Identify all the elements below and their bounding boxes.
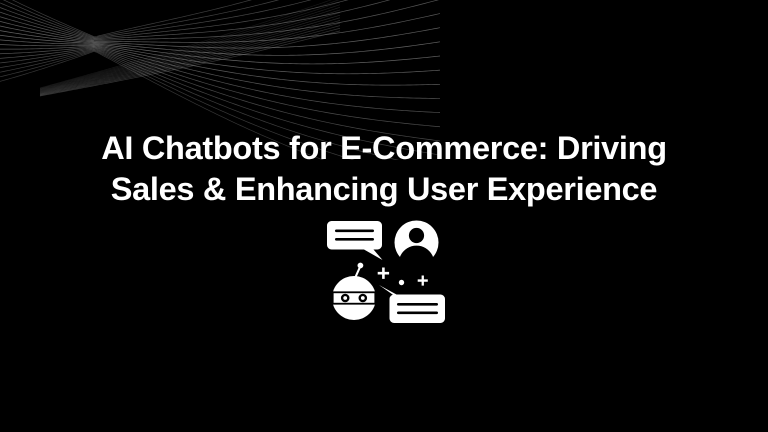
sparkle-plus-icon — [378, 268, 389, 279]
bubble-text-line — [335, 238, 374, 241]
sparkle-plus-icon — [418, 276, 428, 286]
wave-line — [0, 26, 440, 48]
wave-line — [40, 31, 340, 96]
robot-head-icon — [332, 263, 377, 320]
sparkle-dot-icon — [399, 280, 404, 285]
wave-line — [0, 0, 440, 37]
wave-line — [0, 48, 440, 127]
speech-bubble-icon — [379, 285, 445, 323]
wave-line — [40, 0, 340, 88]
robot-eye-band-inner — [334, 293, 375, 303]
wave-line — [0, 47, 440, 113]
wave-line — [40, 20, 340, 93]
robot-eye-pupil — [361, 296, 365, 300]
wave-line — [40, 7, 340, 90]
wave-line — [0, 46, 440, 98]
title-block: AI Chatbots for E-Commerce: Driving Sale… — [0, 128, 768, 210]
ai-chat-illustration — [327, 219, 445, 327]
wave-line — [0, 0, 440, 41]
wave-line — [40, 5, 340, 90]
user-avatar-icon — [395, 221, 439, 271]
page-title: AI Chatbots for E-Commerce: Driving Sale… — [48, 128, 720, 210]
robot-antenna-tip — [358, 263, 364, 269]
speech-bubble-icon — [327, 221, 383, 260]
slide-canvas: AI Chatbots for E-Commerce: Driving Sale… — [0, 0, 768, 432]
wave-line — [0, 35, 440, 64]
wave-line — [40, 0, 340, 89]
wave-line — [40, 18, 340, 93]
bubble-text-line — [397, 303, 438, 306]
wave-line — [0, 44, 440, 85]
robot-antenna — [356, 267, 361, 277]
wave-line — [40, 23, 340, 94]
robot-eye-pupil — [343, 296, 347, 300]
avatar-head — [409, 228, 424, 243]
bubble-text-line — [397, 312, 438, 315]
wave-line — [0, 0, 440, 38]
wave-line — [40, 2, 340, 89]
wave-line — [0, 14, 440, 43]
wave-line — [0, 0, 440, 37]
wave-line — [0, 0, 440, 39]
wave-line — [40, 26, 340, 95]
wave-line — [40, 28, 340, 95]
bubble-text-line — [335, 230, 374, 233]
wave-line — [0, 40, 440, 74]
wave-line — [0, 31, 440, 56]
wave-line — [0, 0, 440, 40]
wave-line — [40, 10, 340, 91]
wave-line — [40, 13, 340, 92]
wave-line — [40, 15, 340, 92]
